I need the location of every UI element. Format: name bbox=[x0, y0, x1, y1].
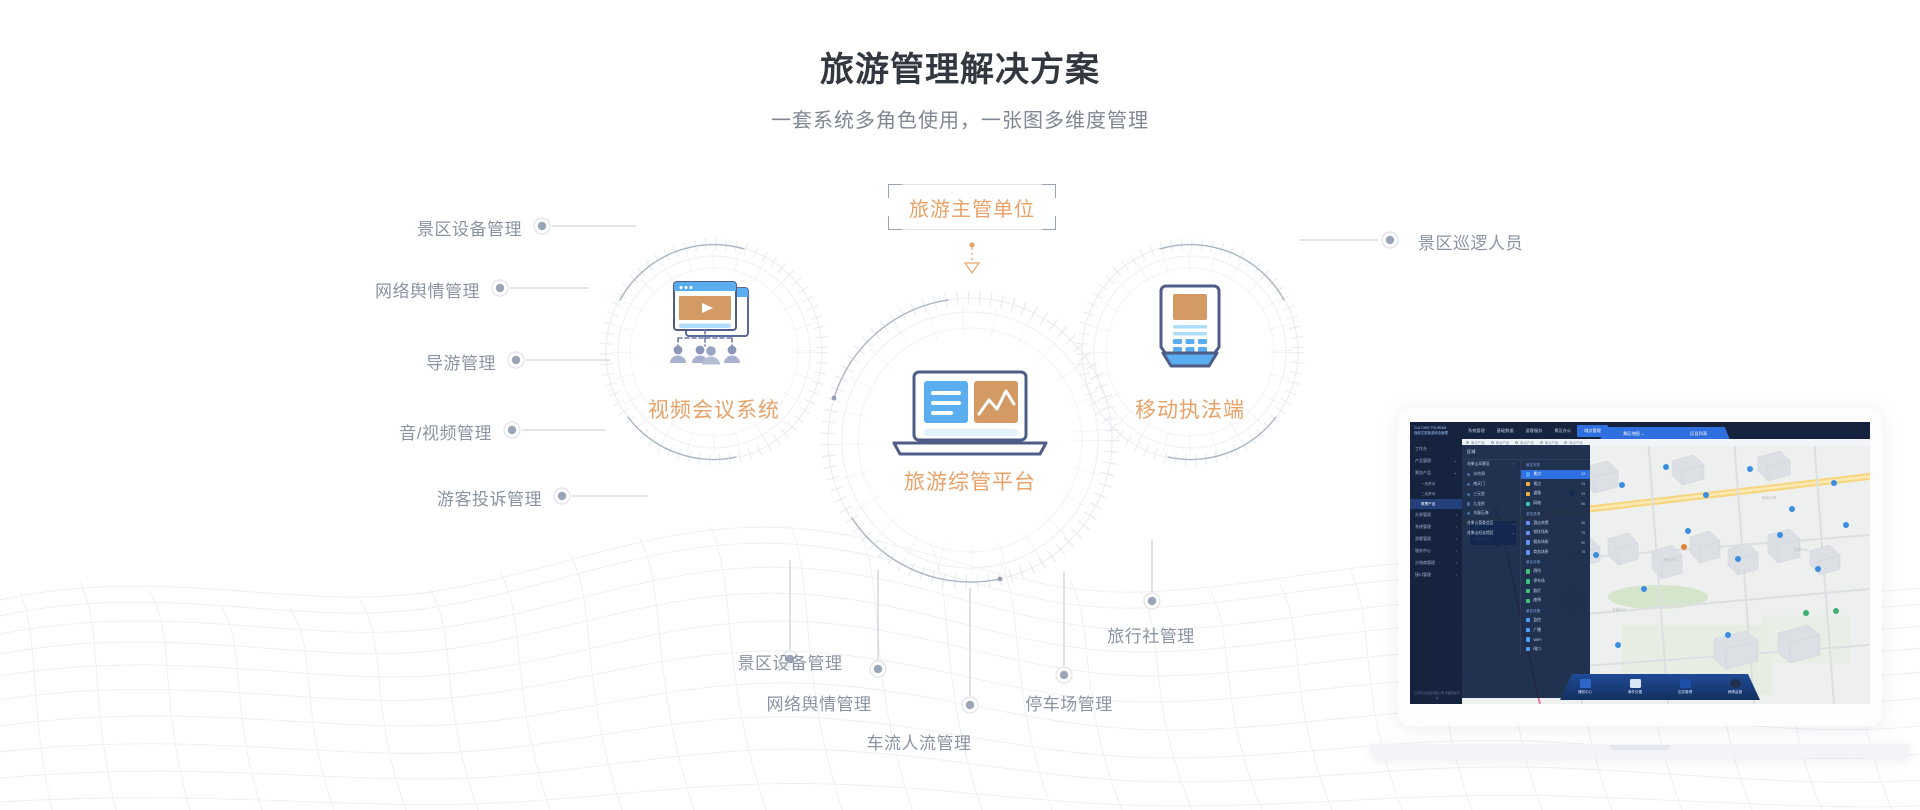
left-label-complaint: 游客投诉管理 bbox=[326, 485, 542, 510]
sidebar-item[interactable]: 票务产品⌄ bbox=[1410, 467, 1462, 479]
close-icon[interactable] bbox=[1466, 441, 1469, 444]
layer-item[interactable]: 停车场 bbox=[1521, 577, 1590, 587]
hub-label-mobile-enforcement: 移动执法端 bbox=[1100, 394, 1280, 424]
box-corner-br bbox=[1042, 216, 1056, 230]
layer-icon bbox=[1526, 521, 1530, 525]
region-node[interactable]: 花果山纪念馆区⌄ bbox=[1462, 528, 1520, 538]
notification-cube-icon bbox=[1580, 679, 1591, 688]
layer-item[interactable]: 服务场所90 bbox=[1521, 538, 1590, 548]
layer-icon bbox=[1526, 628, 1530, 632]
box-corner-bl bbox=[888, 216, 902, 230]
svg-text:游客中心: 游客中心 bbox=[1612, 607, 1627, 612]
bottom-label-network-opinion: 网络舆情管理 bbox=[758, 690, 880, 715]
right-node-dots bbox=[1382, 232, 1398, 248]
layer-item[interactable]: 餐饮场所79 bbox=[1521, 528, 1590, 538]
map-action-bar[interactable]: 通知中心 事件处置 应急管理 舆情监管 bbox=[1560, 674, 1760, 700]
handheld-terminal-icon bbox=[1161, 286, 1219, 366]
layer-icon bbox=[1526, 502, 1530, 506]
layer-icon bbox=[1526, 482, 1530, 486]
left-label-av: 音/视频管理 bbox=[276, 419, 492, 444]
layer-item[interactable]: 厕所 bbox=[1521, 567, 1590, 577]
map-tab-list[interactable]: 区县列表 bbox=[1690, 431, 1707, 437]
sidebar-item[interactable]: 服务中心› bbox=[1410, 545, 1462, 557]
sidebar-item[interactable]: 游客管理› bbox=[1410, 533, 1462, 545]
map-action[interactable]: 通知中心 bbox=[1578, 679, 1592, 695]
nav-tab[interactable]: 基础数据 bbox=[1491, 428, 1520, 434]
left-label-guide: 导游管理 bbox=[280, 349, 496, 374]
event-cube-icon bbox=[1630, 679, 1641, 688]
layer-group-title: 景区安防 bbox=[1521, 460, 1590, 470]
layer-item[interactable]: 座椅 bbox=[1521, 596, 1590, 606]
sidebar-subitem-selected[interactable]: 联票产品 bbox=[1410, 499, 1462, 509]
sidebar-item[interactable]: 接口管理› bbox=[1410, 569, 1462, 581]
bottom-label-traffic-flow: 车流人流管理 bbox=[858, 729, 980, 754]
layer-icon bbox=[1526, 589, 1530, 593]
left-label-scenic-device: 景区设备管理 bbox=[306, 215, 522, 240]
bottom-label-travel-agency: 旅行社管理 bbox=[1090, 622, 1212, 647]
emergency-cube-icon bbox=[1680, 679, 1691, 688]
layer-item-selected[interactable]: 景点23 bbox=[1521, 470, 1590, 480]
bottom-label-parking: 停车场管理 bbox=[1008, 690, 1130, 715]
sidebar-item[interactable]: 分销商管理› bbox=[1410, 557, 1462, 569]
left-leader-lines bbox=[510, 226, 648, 496]
laptop-screen: CULTURE TOURISM 西部文旅旅游综合管理 系统管理 基础数据 游客服… bbox=[1410, 422, 1870, 704]
region-leaf[interactable]: 三元宫 bbox=[1462, 489, 1520, 499]
app-logo-cn: 西部文旅旅游综合管理 bbox=[1414, 431, 1462, 435]
svg-text:景区大门: 景区大门 bbox=[1664, 557, 1679, 562]
close-icon[interactable] bbox=[1491, 441, 1494, 444]
page-title: 旅游管理解决方案 bbox=[0, 42, 1920, 91]
laptop-mockup: CULTURE TOURISM 西部文旅旅游综合管理 系统管理 基础数据 游客服… bbox=[1370, 408, 1910, 758]
box-corner-tl bbox=[888, 184, 902, 198]
box-corner-tr bbox=[1042, 184, 1056, 198]
layer-icon bbox=[1526, 550, 1530, 554]
authority-connector bbox=[965, 242, 979, 273]
box-edge-top bbox=[902, 184, 1042, 185]
region-node[interactable]: 花果山管委会区⌄ bbox=[1462, 519, 1520, 529]
solution-diagram-page: 旅游管理解决方案 一套系统多角色使用，一张图多维度管理 bbox=[0, 0, 1920, 810]
hub-label-video-conference: 视频会议系统 bbox=[614, 394, 814, 424]
layer-icon bbox=[1526, 599, 1530, 603]
layer-item[interactable]: 视点23 bbox=[1521, 479, 1590, 489]
map-action[interactable]: 舆情监管 bbox=[1728, 679, 1742, 695]
app-logo: CULTURE TOURISM 西部文旅旅游综合管理 bbox=[1410, 426, 1462, 435]
layer-icon bbox=[1526, 569, 1530, 573]
left-label-network-opinion: 网络舆情管理 bbox=[264, 277, 480, 302]
authority-box[interactable]: 旅游主管单位 bbox=[888, 184, 1056, 230]
region-leaf[interactable]: 水帘洞 bbox=[1462, 470, 1520, 480]
bullet-icon bbox=[1467, 483, 1470, 486]
layer-panel[interactable]: 区域 花果山风景区⌃ 水帘洞 南天门 三元宫 九龙桥 东磊石海 花果山管委会区⌄… bbox=[1462, 445, 1590, 698]
region-leaf[interactable]: 东磊石海 bbox=[1462, 509, 1520, 519]
layer-icon bbox=[1526, 647, 1530, 651]
layer-item[interactable]: 监控 bbox=[1521, 615, 1590, 625]
opinion-cube-icon bbox=[1730, 679, 1741, 688]
nav-tab[interactable]: 景区办公 bbox=[1548, 428, 1577, 434]
sidebar-item[interactable]: 产品管理⌄ bbox=[1410, 455, 1462, 467]
sidebar-subitem[interactable]: 二级票单 bbox=[1410, 489, 1462, 499]
page-subtitle: 一套系统多角色使用，一张图多维度管理 bbox=[0, 104, 1920, 133]
layer-icon bbox=[1526, 618, 1530, 622]
hub-label-tourism-platform: 旅游综管平台 bbox=[870, 466, 1070, 496]
close-icon[interactable] bbox=[1515, 441, 1518, 444]
layer-item[interactable]: 酒店宾馆45 bbox=[1521, 518, 1590, 528]
layer-group-title: 景区设备 bbox=[1521, 606, 1590, 616]
region-tree[interactable]: 花果山风景区⌃ 水帘洞 南天门 三元宫 九龙桥 东磊石海 花果山管委会区⌄ 花果… bbox=[1462, 460, 1520, 654]
region-node[interactable]: 花果山风景区⌃ bbox=[1462, 460, 1520, 470]
bottom-label-scenic-device: 景区设备管理 bbox=[729, 649, 851, 674]
bullet-icon bbox=[1467, 512, 1470, 515]
layer-item[interactable]: 道路23 bbox=[1521, 489, 1590, 499]
laptop-notch bbox=[1610, 745, 1670, 750]
layer-group-title: 游览资源 bbox=[1521, 509, 1590, 519]
layer-item[interactable]: 路灯 bbox=[1521, 586, 1590, 596]
svg-text:高新大厦: 高新大厦 bbox=[1762, 495, 1777, 500]
layer-item[interactable]: 广播 bbox=[1521, 625, 1590, 635]
region-leaf[interactable]: 九龙桥 bbox=[1462, 499, 1520, 509]
left-node-dots bbox=[492, 218, 570, 504]
layer-item[interactable]: WIFI bbox=[1521, 635, 1590, 644]
close-icon[interactable] bbox=[1540, 441, 1543, 444]
layer-item[interactable]: 网格56 bbox=[1521, 499, 1590, 509]
right-label-patrol: 景区巡逻人员 bbox=[1418, 229, 1523, 254]
layer-icon bbox=[1526, 492, 1530, 496]
region-leaf[interactable]: 南天门 bbox=[1462, 480, 1520, 490]
map-action[interactable]: 事件处置 bbox=[1628, 679, 1642, 695]
bullet-icon bbox=[1467, 502, 1470, 505]
layer-panel-title: 区域 bbox=[1462, 445, 1590, 460]
sidebar-footer: 江苏景点控股有限公司 专属研发平台 bbox=[1413, 691, 1461, 700]
svg-text:世贸中心: 世贸中心 bbox=[1794, 547, 1809, 552]
bullet-icon bbox=[1467, 473, 1470, 476]
video-window-icon bbox=[670, 282, 748, 365]
box-edge-bottom bbox=[902, 229, 1042, 230]
map-tab-map[interactable]: 景区地图 ⌄ bbox=[1623, 431, 1644, 437]
app-sidebar[interactable]: 工作台 产品管理⌄ 票务产品⌄ 一般票单 二级票单 联票产品 交易管理› 系统管… bbox=[1410, 439, 1462, 704]
layer-group-title: 景区设施 bbox=[1521, 557, 1590, 567]
nav-tab[interactable]: 系统管理 bbox=[1462, 428, 1491, 434]
nav-tab[interactable]: 游客服务 bbox=[1520, 428, 1549, 434]
layer-icon bbox=[1526, 531, 1530, 535]
layer-list[interactable]: 景区安防 景点23 视点23 道路23 网格56 游览资源 酒店宾馆45 餐饮场… bbox=[1520, 460, 1590, 654]
laptop-body: CULTURE TOURISM 西部文旅旅游综合管理 系统管理 基础数据 游客服… bbox=[1398, 408, 1882, 726]
laptop-dashboard-icon bbox=[894, 372, 1046, 454]
close-icon[interactable] bbox=[1564, 441, 1567, 444]
layer-icon bbox=[1526, 540, 1530, 544]
sidebar-item[interactable]: 系统管理› bbox=[1410, 521, 1462, 533]
layer-icon bbox=[1526, 472, 1530, 476]
authority-label: 旅游主管单位 bbox=[909, 193, 1035, 222]
sidebar-subitem[interactable]: 一般票单 bbox=[1410, 479, 1462, 489]
layer-icon bbox=[1526, 637, 1530, 641]
layer-item[interactable]: 闸口 bbox=[1521, 644, 1590, 654]
map-action[interactable]: 应急管理 bbox=[1678, 679, 1692, 695]
sidebar-item[interactable]: 工作台 bbox=[1410, 443, 1462, 455]
layer-item[interactable]: 商务场所78 bbox=[1521, 547, 1590, 557]
bullet-icon bbox=[1467, 493, 1470, 496]
layer-icon bbox=[1526, 579, 1530, 583]
sidebar-item[interactable]: 交易管理› bbox=[1410, 509, 1462, 521]
